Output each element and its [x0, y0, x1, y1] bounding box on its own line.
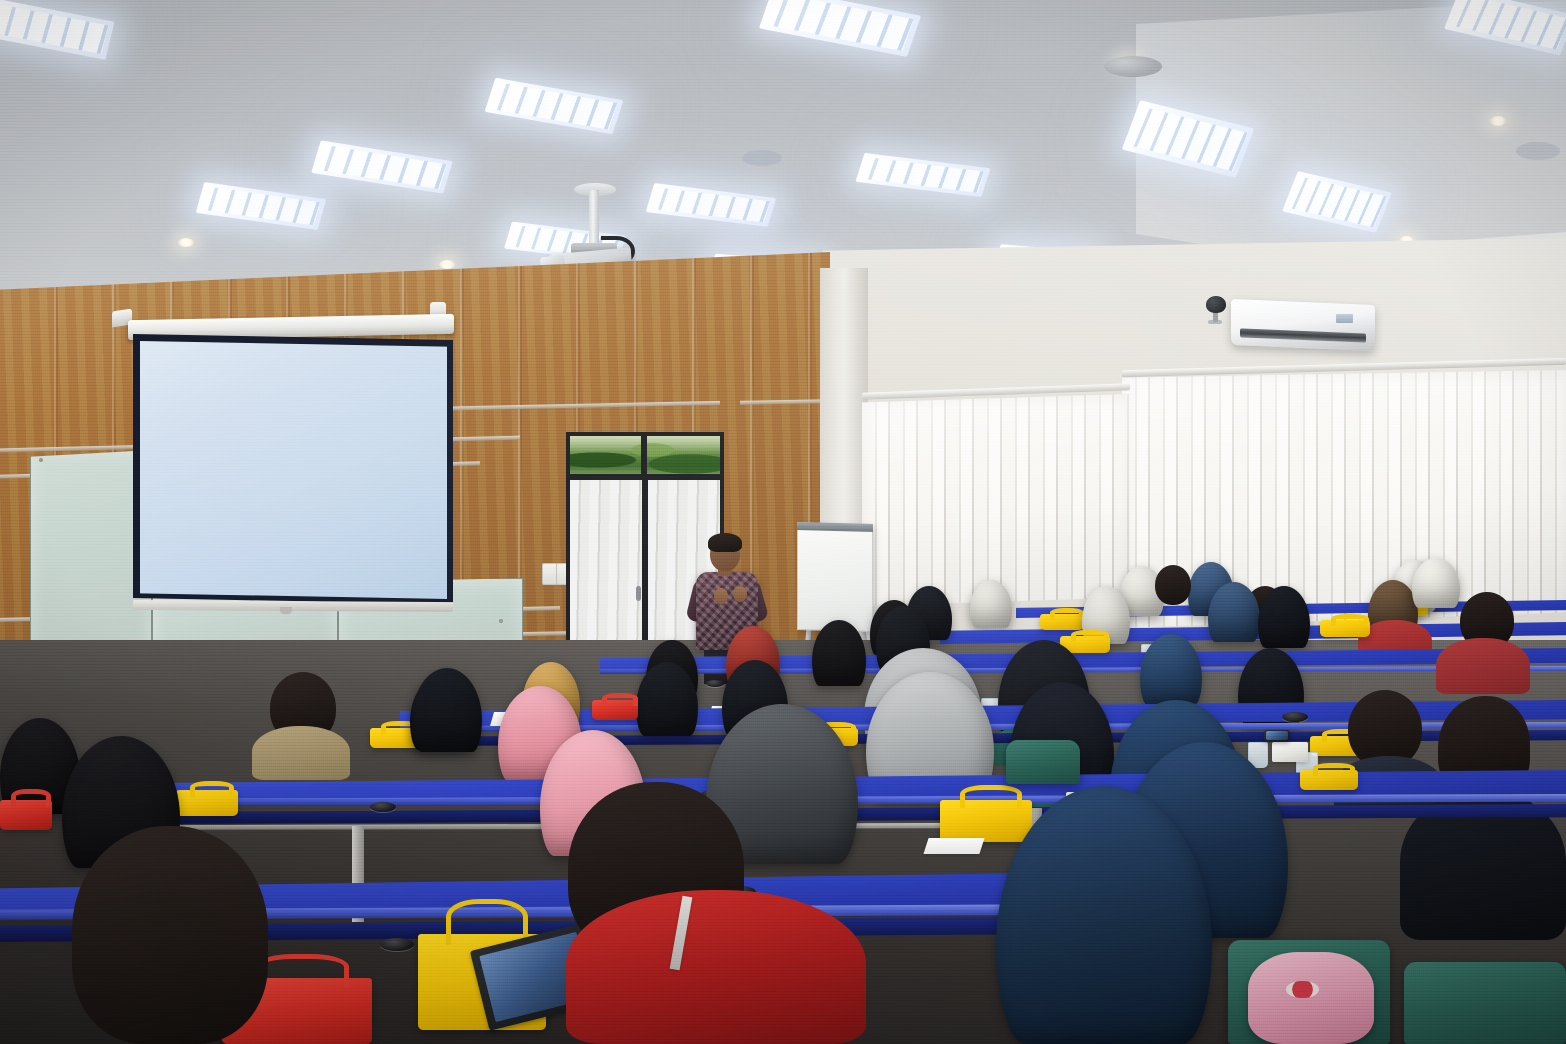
- mobile-phone[interactable]: [1264, 730, 1290, 741]
- attendee-red-polo-shirt: [566, 890, 866, 1044]
- yellow-tote-bag: [940, 800, 1032, 842]
- phone-screen: [1266, 731, 1288, 740]
- door-leaf-left[interactable]: [570, 480, 642, 658]
- attendee-head-glasses-foreground: [72, 826, 268, 1044]
- yellow-tote-bag: [1300, 770, 1358, 790]
- yellow-tote-bag: [176, 790, 238, 816]
- pink-backpack: [1248, 952, 1374, 1044]
- desk-cable-grommet: [370, 802, 396, 812]
- door-handle[interactable]: [636, 586, 641, 601]
- board-screw: [499, 619, 503, 623]
- classroom-photograph: [0, 0, 1566, 1044]
- red-tote-bag: [592, 700, 638, 720]
- presenter-right-hand: [733, 586, 747, 602]
- vertical-blinds-middle[interactable]: [862, 394, 1130, 606]
- desk-cable-grommet: [380, 938, 414, 951]
- flip-chart-pad[interactable]: [797, 522, 873, 632]
- chair-backrest[interactable]: [1404, 962, 1566, 1044]
- chair-backrest[interactable]: [1006, 740, 1080, 784]
- ceiling-speaker-disc: [742, 150, 782, 166]
- air-conditioner-badge: [1336, 314, 1353, 323]
- recessed-downlight: [439, 260, 455, 269]
- yellow-tote-bag: [1320, 620, 1370, 637]
- yellow-tote-bag: [1040, 614, 1084, 630]
- recessed-downlight: [1490, 116, 1506, 126]
- projection-screen-border: [133, 334, 453, 604]
- tissue-box: [1272, 742, 1308, 762]
- blind-sheen: [862, 394, 1130, 606]
- air-conditioner-unit: [1231, 299, 1375, 351]
- desk-cable-grommet: [706, 680, 724, 687]
- cctv-camera-icon: [1206, 296, 1226, 313]
- ceiling-speaker-disc: [1104, 56, 1162, 77]
- paper-sheet: [923, 838, 984, 854]
- desk-cable-grommet: [1282, 712, 1308, 722]
- student-khaki-top: [252, 726, 350, 780]
- presenter-left-hand: [714, 588, 728, 604]
- red-tote-bag: [0, 800, 52, 830]
- ceiling-speaker-disc: [1516, 142, 1560, 160]
- projector-mount-pole: [589, 190, 599, 246]
- projection-screen-pull-knob[interactable]: [280, 607, 292, 614]
- student-red-top: [1436, 638, 1530, 694]
- presenter-hair: [708, 533, 742, 552]
- recessed-downlight: [178, 238, 194, 247]
- projection-screen-surface[interactable]: [140, 341, 447, 599]
- board-screw: [39, 458, 43, 462]
- student-head-dark-hair: [1155, 565, 1191, 605]
